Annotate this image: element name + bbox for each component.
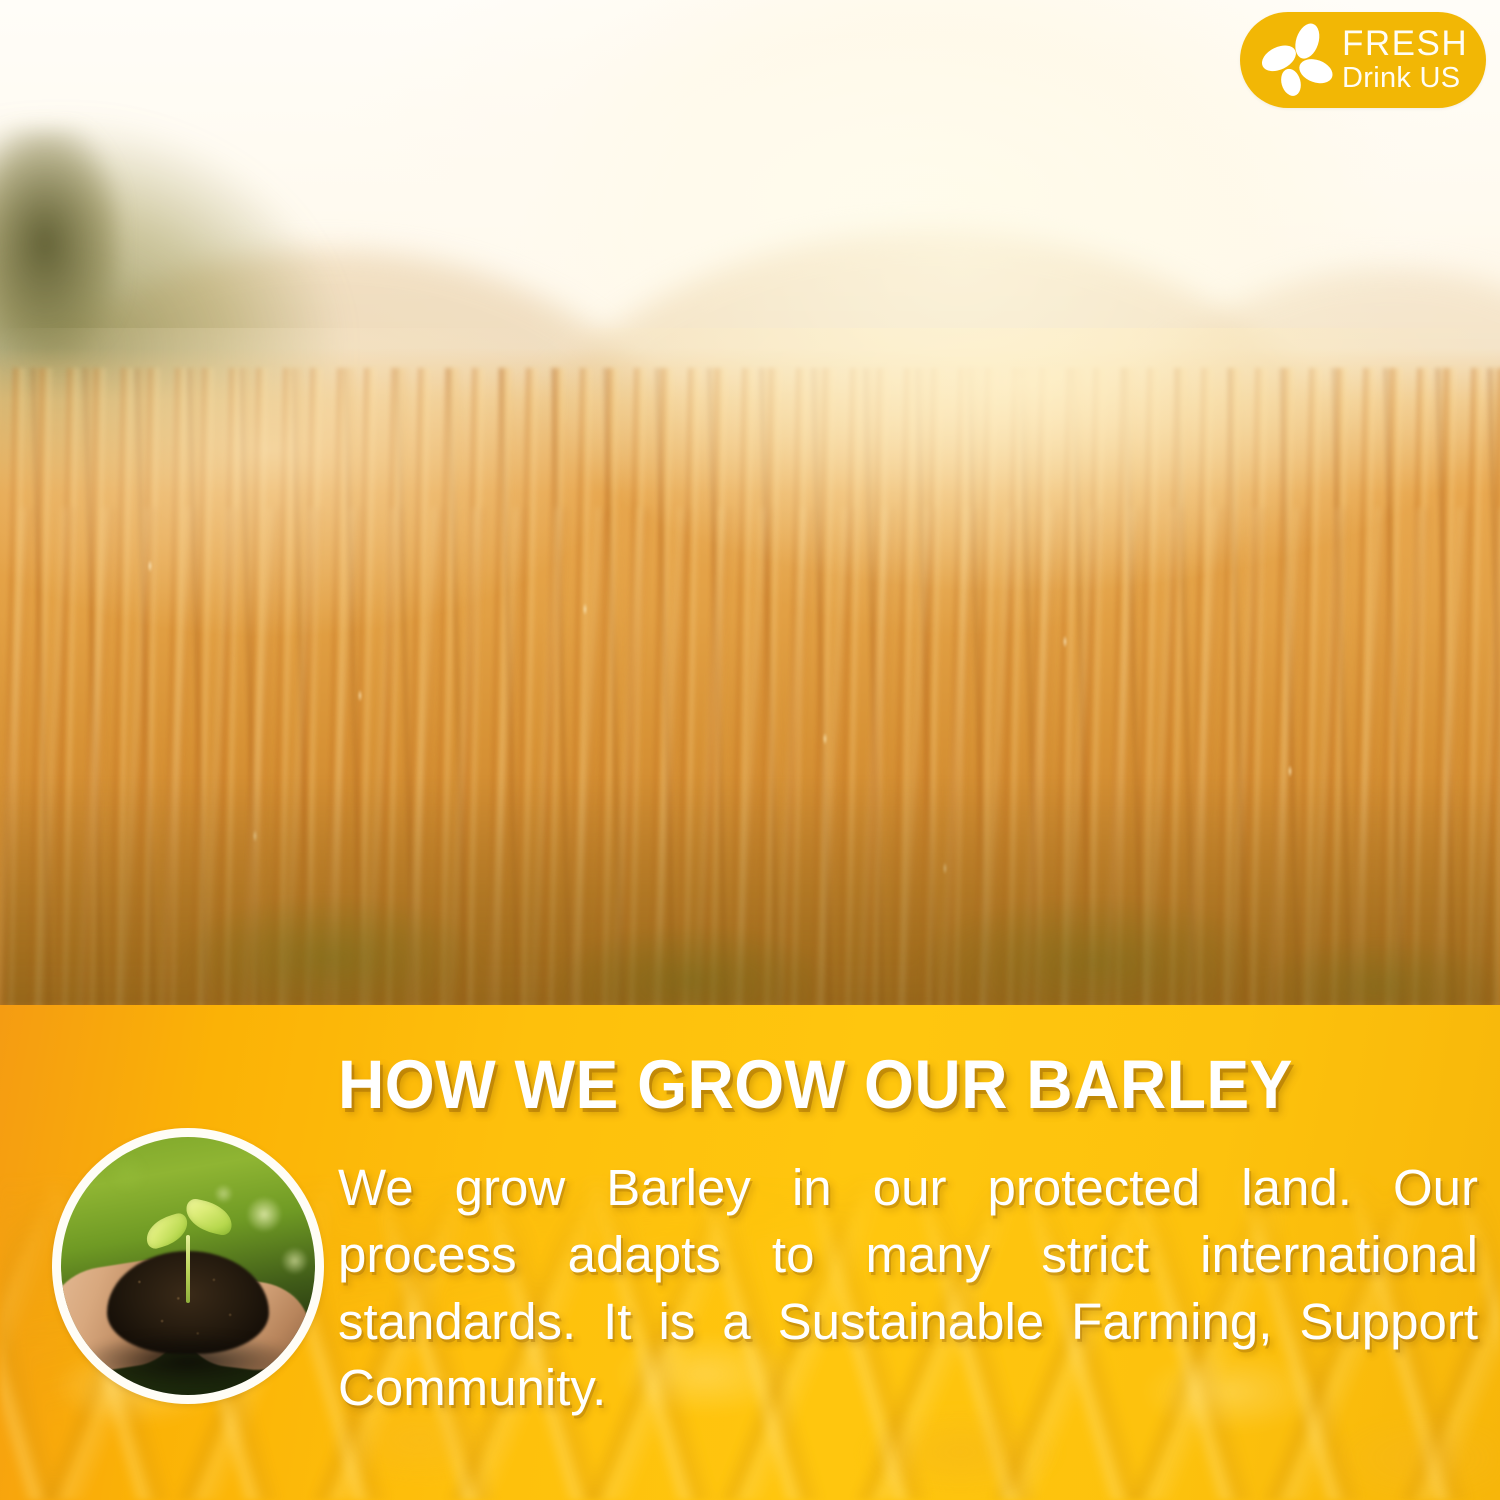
four-leaf-sprout-icon <box>1254 17 1340 103</box>
foreground-tree <box>0 128 120 358</box>
brand-name: FRESH <box>1342 26 1468 61</box>
sprout-stem <box>186 1235 190 1303</box>
brand-logo-text: FRESH Drink US <box>1342 26 1468 95</box>
seedling-circle-frame <box>52 1128 324 1404</box>
panel-heading: HOW WE GROW OUR BARLEY <box>338 1050 1398 1119</box>
product-infographic-canvas: FRESH Drink US HOW WE GROW OUR BARLEY We… <box>0 0 1500 1500</box>
brand-tagline: Drink US <box>1342 64 1468 93</box>
info-text-column: HOW WE GROW OUR BARLEY We grow Barley in… <box>338 1050 1478 1489</box>
hands-holding-soil-seedling-image <box>61 1137 315 1395</box>
panel-body-text: We grow Barley in our protected land. Ou… <box>338 1155 1478 1489</box>
hand-shadow <box>76 1333 300 1390</box>
field-sun-glow <box>0 328 1500 1008</box>
brand-logo-badge[interactable]: FRESH Drink US <box>1240 12 1486 108</box>
hero-barley-field-image <box>0 0 1500 1008</box>
